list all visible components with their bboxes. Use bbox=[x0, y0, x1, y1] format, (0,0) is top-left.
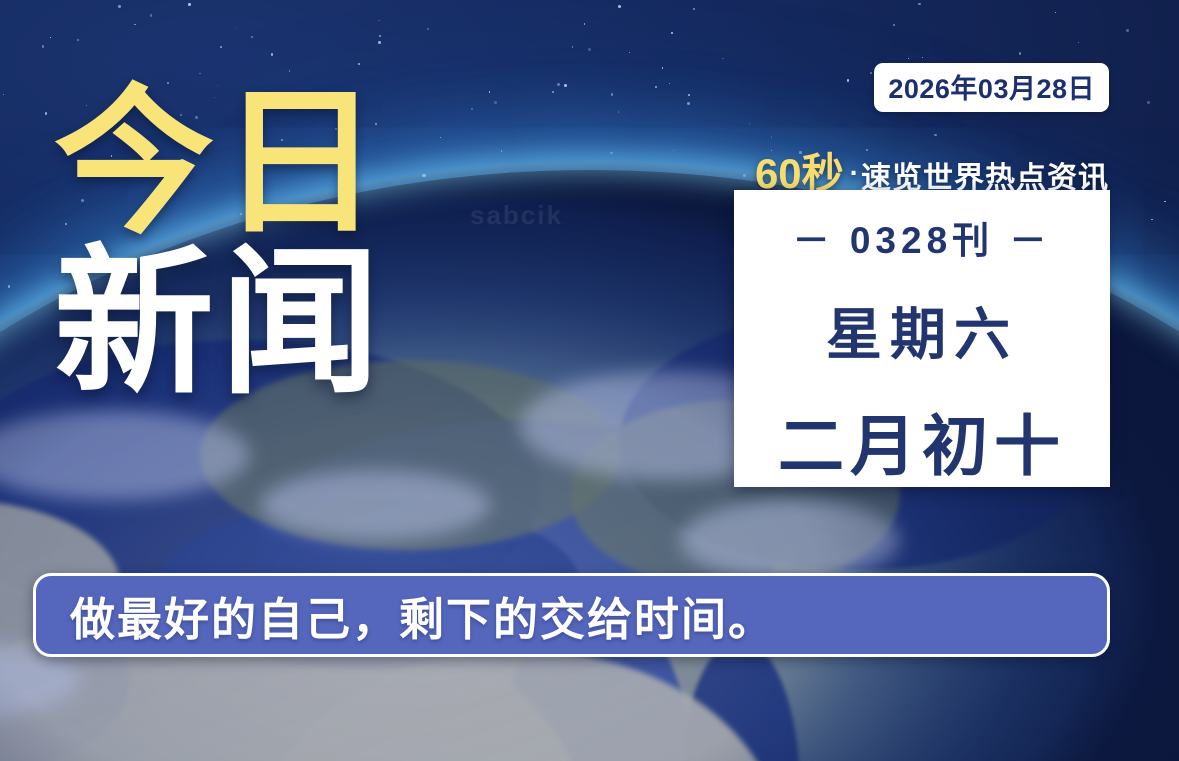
watermark-text: sabcik bbox=[470, 200, 563, 231]
star bbox=[588, 48, 591, 51]
star bbox=[501, 150, 503, 152]
star bbox=[564, 84, 567, 87]
star bbox=[918, 3, 921, 6]
star bbox=[1147, 101, 1150, 104]
quote-text: 做最好的自己，剩下的交给时间。 bbox=[36, 583, 775, 648]
star bbox=[655, 86, 657, 88]
date-badge: 2026年03月28日 bbox=[874, 63, 1109, 112]
star bbox=[572, 46, 574, 48]
star bbox=[42, 45, 44, 47]
star bbox=[693, 8, 695, 10]
title-line-today: 今日 bbox=[54, 86, 386, 240]
star bbox=[489, 91, 490, 92]
date-info-card: － 0328刊 － 星期六 二月初十 bbox=[734, 190, 1110, 487]
star bbox=[379, 35, 381, 37]
star bbox=[378, 41, 381, 44]
star bbox=[471, 108, 473, 110]
star bbox=[1019, 52, 1021, 54]
star bbox=[893, 24, 896, 27]
star bbox=[934, 134, 937, 137]
star bbox=[440, 137, 441, 138]
star bbox=[618, 5, 621, 8]
weekday-text: 星期六 bbox=[826, 290, 1018, 371]
star bbox=[743, 174, 746, 177]
star bbox=[1055, 12, 1056, 13]
star bbox=[908, 58, 909, 59]
star bbox=[610, 152, 612, 154]
star bbox=[584, 23, 585, 24]
star bbox=[289, 70, 291, 72]
star bbox=[427, 28, 430, 31]
star bbox=[358, 63, 360, 65]
star bbox=[629, 52, 631, 54]
star bbox=[3, 94, 4, 95]
star bbox=[922, 57, 923, 58]
star bbox=[771, 136, 773, 138]
quote-banner: 做最好的自己，剩下的交给时间。 bbox=[33, 573, 1110, 657]
star bbox=[749, 123, 750, 124]
star bbox=[662, 67, 664, 69]
star bbox=[220, 46, 222, 48]
star bbox=[688, 94, 690, 96]
title-line-news: 新闻 bbox=[54, 246, 386, 400]
star bbox=[422, 174, 425, 177]
star bbox=[1164, 201, 1166, 203]
star bbox=[552, 91, 554, 93]
star bbox=[77, 39, 79, 41]
star bbox=[611, 93, 613, 95]
star bbox=[150, 14, 153, 17]
star bbox=[870, 72, 872, 74]
star bbox=[847, 79, 849, 81]
star bbox=[618, 111, 620, 113]
star bbox=[494, 101, 496, 103]
poster-title: 今日 新闻 bbox=[54, 86, 386, 399]
star bbox=[8, 285, 11, 288]
star bbox=[669, 83, 670, 84]
star bbox=[251, 36, 253, 38]
news-poster: sabcik 今日 新闻 2026年03月28日 60秒·速览世界热点资讯 － … bbox=[0, 0, 1179, 761]
tagline-separator: · bbox=[844, 157, 861, 188]
star bbox=[722, 58, 724, 60]
star bbox=[1126, 29, 1129, 32]
star bbox=[118, 5, 121, 8]
star bbox=[673, 150, 674, 151]
star bbox=[557, 83, 560, 86]
star bbox=[378, 20, 380, 22]
star bbox=[271, 53, 273, 55]
star bbox=[45, 112, 48, 115]
star bbox=[687, 102, 690, 105]
star bbox=[188, 3, 191, 6]
issue-number: － 0328刊 － bbox=[793, 210, 1052, 264]
star bbox=[671, 32, 673, 34]
star bbox=[1151, 219, 1152, 220]
star bbox=[134, 24, 136, 26]
lunar-date: 二月初十 bbox=[778, 393, 1066, 489]
star bbox=[235, 27, 237, 29]
star bbox=[50, 37, 51, 38]
star bbox=[1078, 42, 1079, 43]
